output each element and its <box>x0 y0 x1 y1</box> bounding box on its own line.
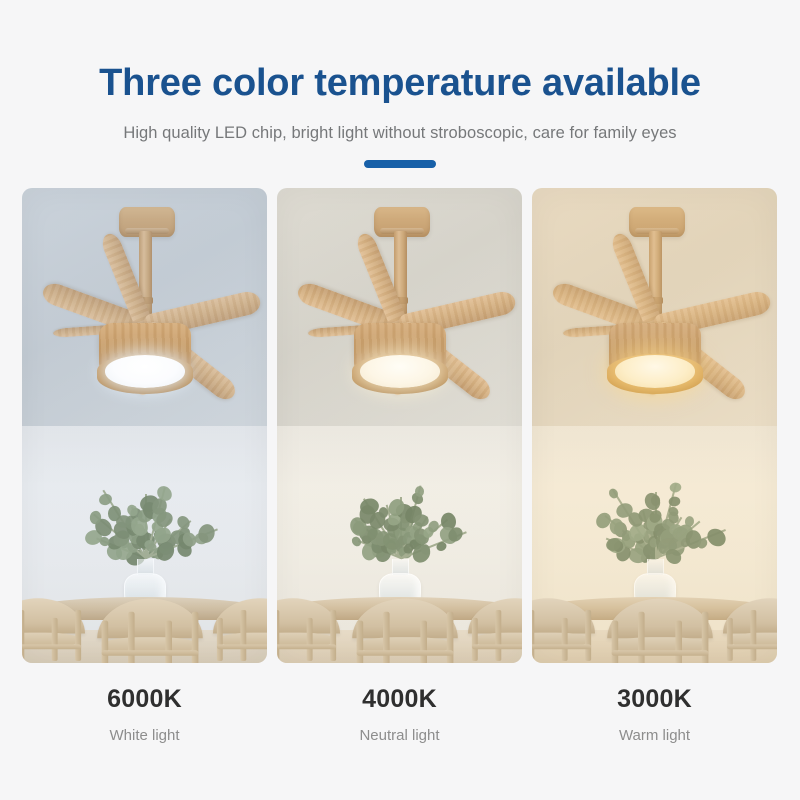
page-subtitle: High quality LED chip, bright light with… <box>0 124 800 143</box>
dining-chair <box>211 571 267 661</box>
light-name-label: Warm light <box>532 727 777 744</box>
scene-4000k <box>277 188 522 663</box>
chair-rail <box>727 644 777 649</box>
plant-leaf <box>669 496 682 507</box>
plant-leaf <box>669 482 682 493</box>
plant-leaf <box>415 486 424 497</box>
chair-leg <box>75 610 81 661</box>
photo-6000k[interactable] <box>22 188 267 663</box>
caption-4000k: 4000K Neutral light <box>277 685 522 744</box>
ceiling-fan-4000k <box>277 188 522 426</box>
eucalyptus-plant <box>85 445 205 565</box>
kelvin-value: 3000K <box>532 685 777 714</box>
chair-leg <box>307 618 313 661</box>
chair-leg <box>727 618 733 661</box>
room-area <box>532 426 777 664</box>
led-light-dome <box>105 355 185 388</box>
scene-3000k <box>532 188 777 663</box>
chair-back <box>352 599 458 639</box>
chair-rail <box>612 650 709 656</box>
chair-leg <box>240 610 246 661</box>
chair-leg <box>675 621 682 663</box>
ceiling-fan-3000k <box>532 188 777 426</box>
light-name-label: Neutral light <box>277 727 522 744</box>
chair-leg <box>472 618 478 661</box>
chair-leg <box>750 610 756 661</box>
chair-leg <box>165 621 172 663</box>
chair-back <box>97 599 203 639</box>
chair-rail <box>277 644 336 649</box>
chair-leg <box>217 618 223 661</box>
chair-leg <box>585 610 591 661</box>
dining-chair <box>350 568 460 663</box>
chair-leg <box>52 618 58 661</box>
dining-chair <box>95 568 205 663</box>
panel-4000k[interactable]: 4000K Neutral light <box>277 188 522 744</box>
caption-6000k: 6000K White light <box>22 685 267 744</box>
chair-leg <box>102 621 109 663</box>
chair-leg <box>330 610 336 661</box>
header-section: Three color temperature available High q… <box>0 0 800 168</box>
dining-chair <box>721 571 777 661</box>
dining-chair <box>466 571 522 661</box>
dining-chair <box>22 571 87 661</box>
chair-leg <box>420 621 427 663</box>
chair-leg <box>22 610 24 661</box>
chair-leg <box>612 621 619 663</box>
eucalyptus-plant <box>595 445 715 565</box>
chair-rail <box>22 644 81 649</box>
kelvin-value: 6000K <box>22 685 267 714</box>
dining-chair <box>605 568 715 663</box>
led-light-dome <box>615 355 695 388</box>
kelvin-value: 4000K <box>277 685 522 714</box>
divider-wrapper <box>0 160 800 168</box>
scene-6000k <box>22 188 267 663</box>
eucalyptus-plant <box>340 445 460 565</box>
chair-rail <box>472 644 522 649</box>
page-title: Three color temperature available <box>0 62 800 105</box>
chair-back <box>607 599 713 639</box>
caption-3000k: 3000K Warm light <box>532 685 777 744</box>
led-light-dome <box>360 355 440 388</box>
ceiling-fan-6000k <box>22 188 267 426</box>
chair-leg <box>562 618 568 661</box>
chair-leg <box>532 610 534 661</box>
light-name-label: White light <box>22 727 267 744</box>
panel-3000k[interactable]: 3000K Warm light <box>532 188 777 744</box>
accent-divider <box>364 160 436 168</box>
photo-3000k[interactable] <box>532 188 777 663</box>
photo-4000k[interactable] <box>277 188 522 663</box>
chair-rail <box>357 650 454 656</box>
room-area <box>22 426 267 664</box>
chair-leg <box>357 621 364 663</box>
chair-rail <box>217 644 267 649</box>
chair-leg <box>277 610 279 661</box>
chair-leg <box>495 610 501 661</box>
room-area <box>277 426 522 664</box>
panel-6000k[interactable]: 6000K White light <box>22 188 267 744</box>
dining-chair <box>532 571 597 661</box>
chair-rail <box>532 644 591 649</box>
dining-chair <box>277 571 342 661</box>
color-temperature-panels: 6000K White light <box>22 188 778 744</box>
chair-rail <box>102 650 199 656</box>
